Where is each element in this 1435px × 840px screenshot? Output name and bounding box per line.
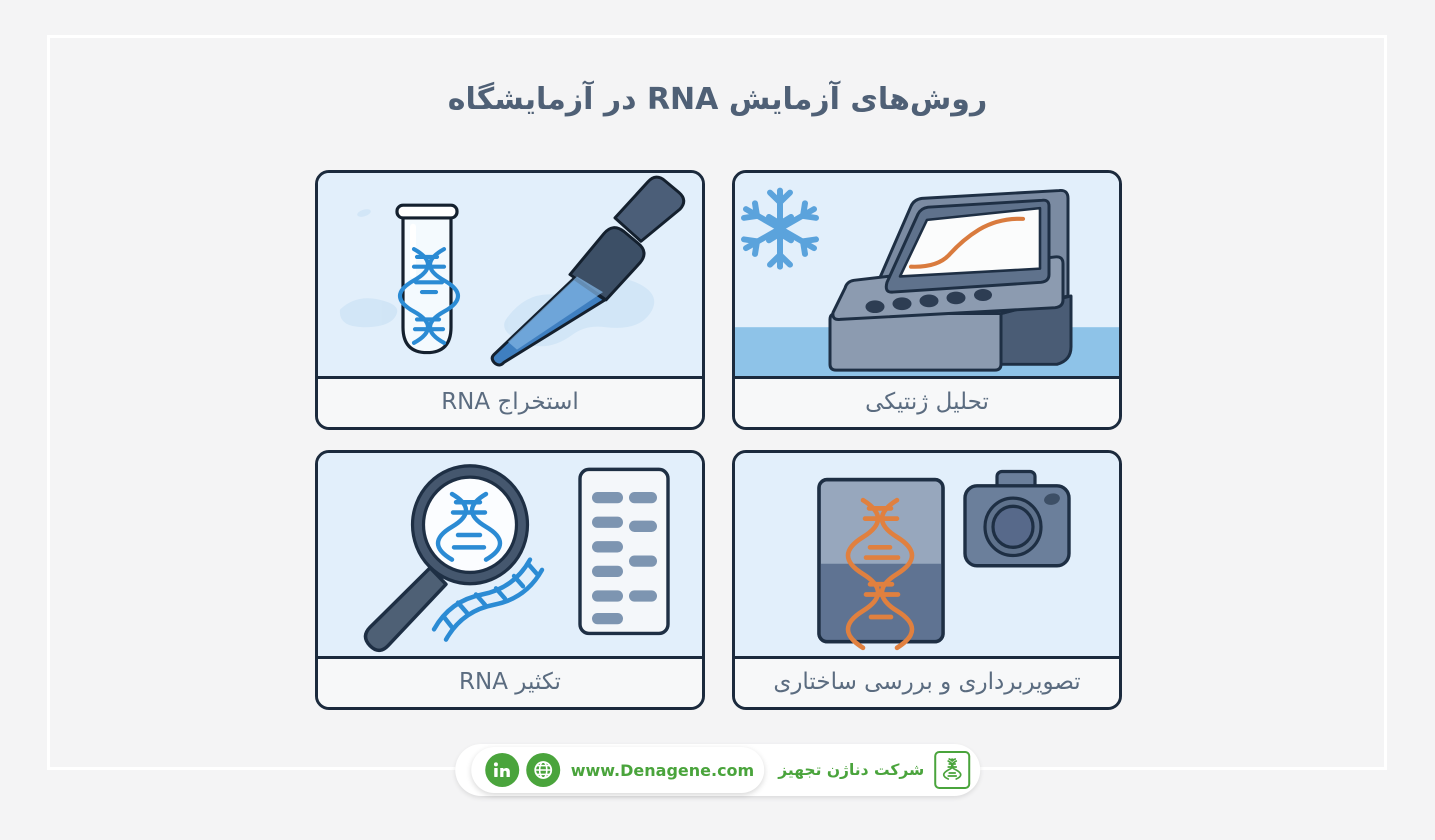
globe-icon[interactable] [526,753,560,787]
card-grid: استخراج RNA [315,170,1122,710]
illustration-imaging-camera [735,453,1119,659]
company-name: شرکت دناژن تجهیز [778,761,924,779]
denagene-dna-logo [934,751,970,789]
micropipette [492,177,684,365]
card-imaging-structural-analysis[interactable]: تصویربرداری و بررسی ساختاری [732,450,1122,710]
pcr-machine [830,190,1071,370]
gel-band [592,517,623,528]
website-url[interactable]: www.Denagene.com [567,761,757,780]
gel-band [592,541,623,552]
gel-band [592,590,623,601]
card-label-rna-amplification: تکثیر RNA [318,659,702,707]
website-pill[interactable]: www.Denagene.com [471,747,765,793]
linkedin-icon[interactable] [485,753,519,787]
gel-band [592,492,623,503]
footer-bar: شرکت دناژن تجهیز www.Denagene.com [455,744,981,796]
card-label-rna-extraction: استخراج RNA [318,379,702,427]
camera-icon [965,471,1069,565]
gel-electrophoresis-panel [580,469,668,633]
gel-band [592,613,623,624]
card-label-imaging-structural-analysis: تصویربرداری و بررسی ساختاری [735,659,1119,707]
gel-band [629,492,657,503]
card-rna-amplification[interactable]: تکثیر RNA [315,450,705,710]
gel-band [629,556,657,567]
snowflake-icon [744,191,816,267]
card-rna-extraction[interactable]: استخراج RNA [315,170,705,430]
gel-band [629,521,657,532]
brand-pill: شرکت دناژن تجهیز www.Denagene.com [455,744,981,796]
gel-band [592,566,623,577]
card-label-genetic-analysis: تحلیل ژنتیکی [735,379,1119,427]
gel-band [629,590,657,601]
card-genetic-analysis[interactable]: تحلیل ژنتیکی [732,170,1122,430]
illustration-magnifier-gel [318,453,702,659]
page-title: روش‌های آزمایش RNA در آزمایشگاه [0,82,1435,117]
illustration-test-tube-pipette [318,173,702,379]
illustration-thermocycler [735,173,1119,379]
